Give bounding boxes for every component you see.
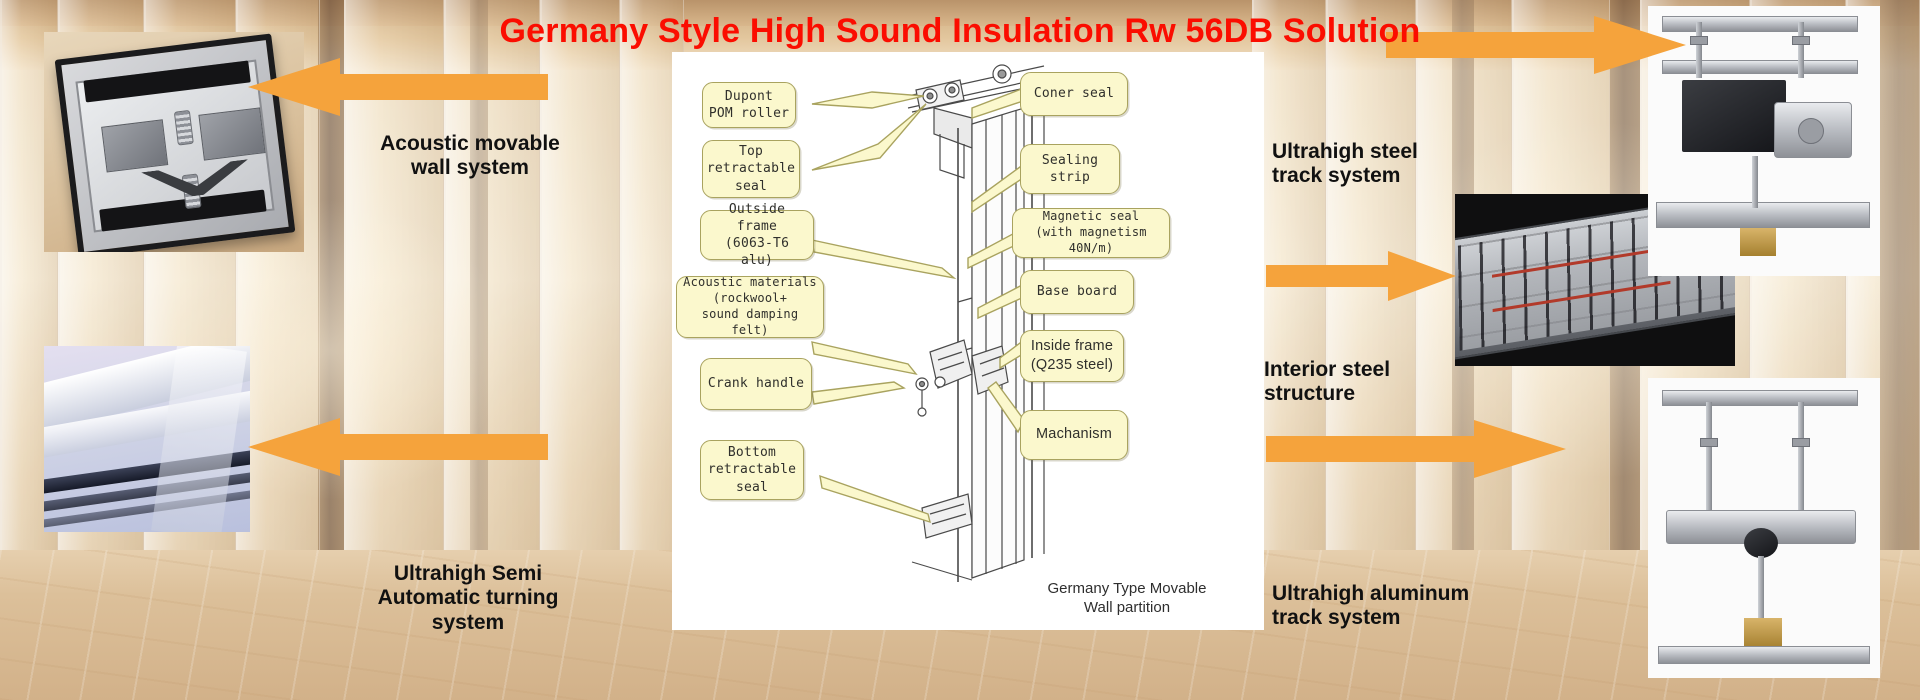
photo-threaded-rod — [1706, 402, 1712, 510]
diagram-label-outside-frame: Outside frame (6063-T6 alu) — [700, 210, 814, 260]
arrow-left-bottom — [248, 416, 548, 478]
diagram-label-machanism: Machanism — [1020, 410, 1128, 460]
diagram-label-dupont-pom-roller: Dupont POM roller — [702, 82, 796, 128]
callout-acoustic-movable-wall-system: Acoustic movable wall system — [330, 132, 610, 181]
diagram-label-bottom-retractable-seal: Bottom retractable seal — [700, 440, 804, 500]
photo-mid-rail — [1662, 60, 1858, 74]
callout-ultrahigh-semi-automatic-turning-system: Ultrahigh Semi Automatic turning system — [318, 562, 618, 635]
photo-spring — [174, 110, 194, 146]
diagram-caption: Germany Type Movable Wall partition — [1017, 580, 1237, 618]
diagram-label-coner-seal: Coner seal — [1020, 72, 1128, 116]
photo-base-rail — [1658, 646, 1870, 664]
photo-semi-automatic-turning-system — [44, 346, 250, 532]
photo-hanger-bolt — [1752, 156, 1758, 208]
photo-threaded-rod — [1798, 402, 1804, 510]
photo-rubber-strip-top — [83, 60, 250, 102]
diagram-label-inside-frame: Inside frame (Q235 steel) — [1020, 330, 1124, 382]
photo-nut — [1700, 438, 1718, 447]
photo-roller-wheel — [1798, 118, 1824, 144]
photo-brass-block — [1744, 618, 1782, 648]
callout-ultrahigh-steel-track-system: Ultrahigh steel track system — [1272, 140, 1542, 189]
diagram-label-magnetic-seal: Magnetic seal (with magnetism 40N/m) — [1012, 208, 1170, 258]
photo-ultrahigh-aluminum-track-hardware — [1648, 378, 1880, 678]
diagram-line-art — [672, 52, 1264, 630]
callout-interior-steel-structure: Interior steel structure — [1264, 358, 1504, 407]
photo-hanger-bolt — [1758, 556, 1764, 618]
photo-black-bracket — [1682, 80, 1786, 152]
diagram-label-acoustic-materials: Acoustic materials (rockwool+ sound damp… — [676, 276, 824, 338]
page-title: Germany Style High Sound Insulation Rw 5… — [0, 12, 1920, 51]
diagram-label-base-board: Base board — [1020, 270, 1134, 314]
movable-wall-partition-diagram: Dupont POM roller Top retractable seal O… — [672, 52, 1264, 630]
photo-brass-block — [1740, 228, 1776, 256]
photo-nut — [1792, 438, 1810, 447]
photo-seal-unit-inner — [75, 59, 274, 232]
arrow-right-middle — [1266, 250, 1456, 302]
callout-ultrahigh-aluminum-track-system: Ultrahigh aluminum track system — [1272, 582, 1562, 631]
diagram-label-sealing-strip: Sealing strip — [1020, 144, 1120, 194]
arrow-right-bottom — [1266, 418, 1566, 480]
diagram-label-top-retractable-seal: Top retractable seal — [702, 140, 800, 198]
photo-steel-plate — [101, 119, 168, 172]
photo-top-rail — [1662, 390, 1858, 406]
photo-rubber-strip-bottom — [99, 189, 266, 231]
diagram-label-crank-handle: Crank handle — [700, 358, 812, 410]
photo-aluminium-track — [1656, 202, 1870, 228]
arrow-left-top — [248, 56, 548, 118]
photo-roller-wheel — [1744, 528, 1778, 558]
